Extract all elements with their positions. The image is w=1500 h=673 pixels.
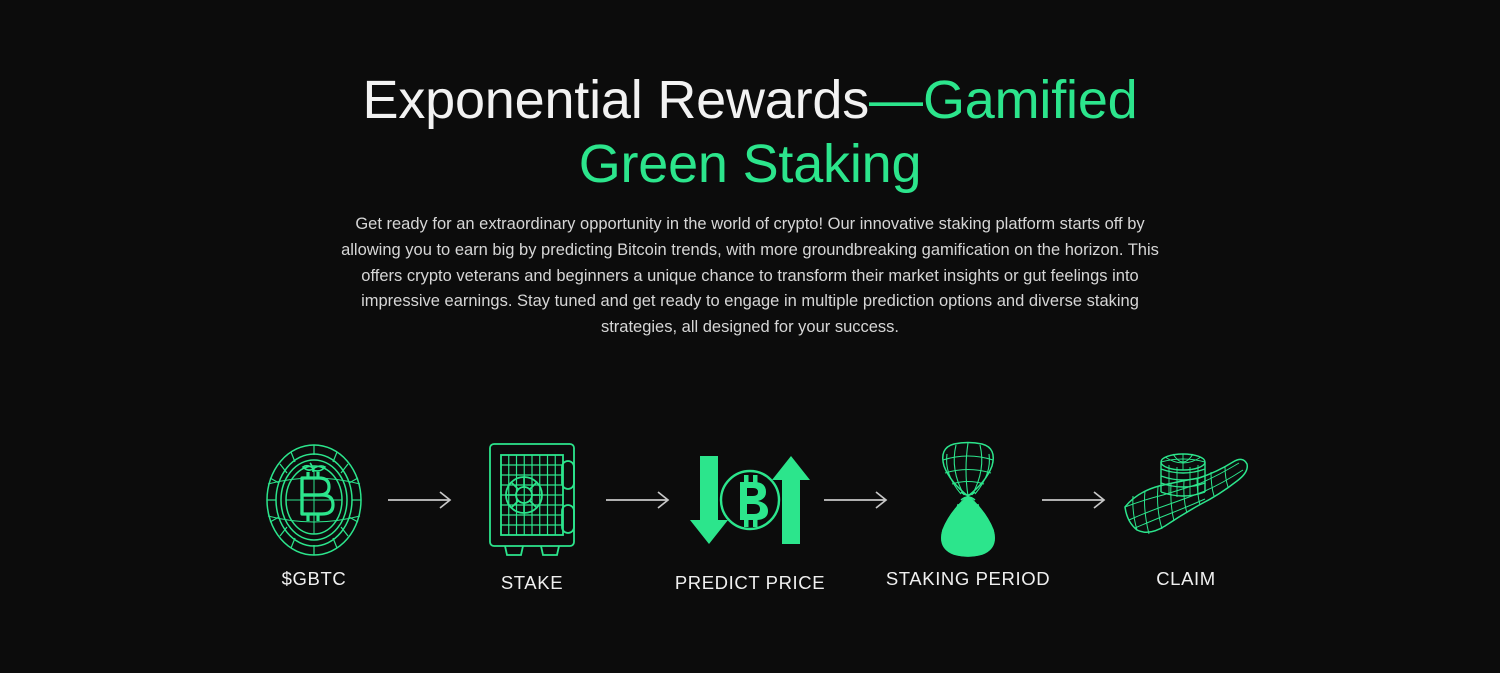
- staking-flow-diagram: $GBTC: [285, 440, 1215, 620]
- flow-step-label: STAKE: [501, 572, 563, 594]
- flow-step-label: STAKING PERIOD: [886, 568, 1050, 590]
- safe-vault-icon: [478, 440, 586, 560]
- arrow-right-icon: [384, 440, 462, 560]
- flow-step-predict-price: PREDICT PRICE: [680, 440, 820, 594]
- arrow-right-icon: [1038, 440, 1116, 560]
- hero-paragraph: Get ready for an extraordinary opportuni…: [327, 212, 1173, 341]
- hero-heading-wrap: Exponential Rewards—Gamified Green Staki…: [0, 68, 1500, 196]
- hourglass-sand: [942, 496, 994, 556]
- heading-plain-part: Exponential Rewards: [363, 70, 869, 130]
- price-prediction-arrows-icon: [686, 440, 814, 560]
- page-title: Exponential Rewards—Gamified Green Staki…: [320, 68, 1180, 196]
- heading-dash: —: [869, 70, 923, 130]
- flow-step-label: CLAIM: [1156, 568, 1216, 590]
- arrow-right-icon: [820, 440, 898, 560]
- green-bitcoin-coin-icon: [262, 440, 366, 560]
- flow-step-gbtc: $GBTC: [244, 440, 384, 590]
- flow-step-staking-period: STAKING PERIOD: [898, 440, 1038, 590]
- bitcoin-circle-icon: [721, 471, 779, 529]
- hand-with-coins-icon: [1121, 440, 1251, 560]
- flow-step-label: $GBTC: [282, 568, 347, 590]
- flow-step-claim: CLAIM: [1116, 440, 1256, 590]
- flow-step-label: PREDICT PRICE: [675, 572, 825, 594]
- flow-step-stake: STAKE: [462, 440, 602, 594]
- hourglass-icon: [930, 440, 1006, 560]
- page-root: Exponential Rewards—Gamified Green Staki…: [0, 0, 1500, 673]
- arrow-right-icon: [602, 440, 680, 560]
